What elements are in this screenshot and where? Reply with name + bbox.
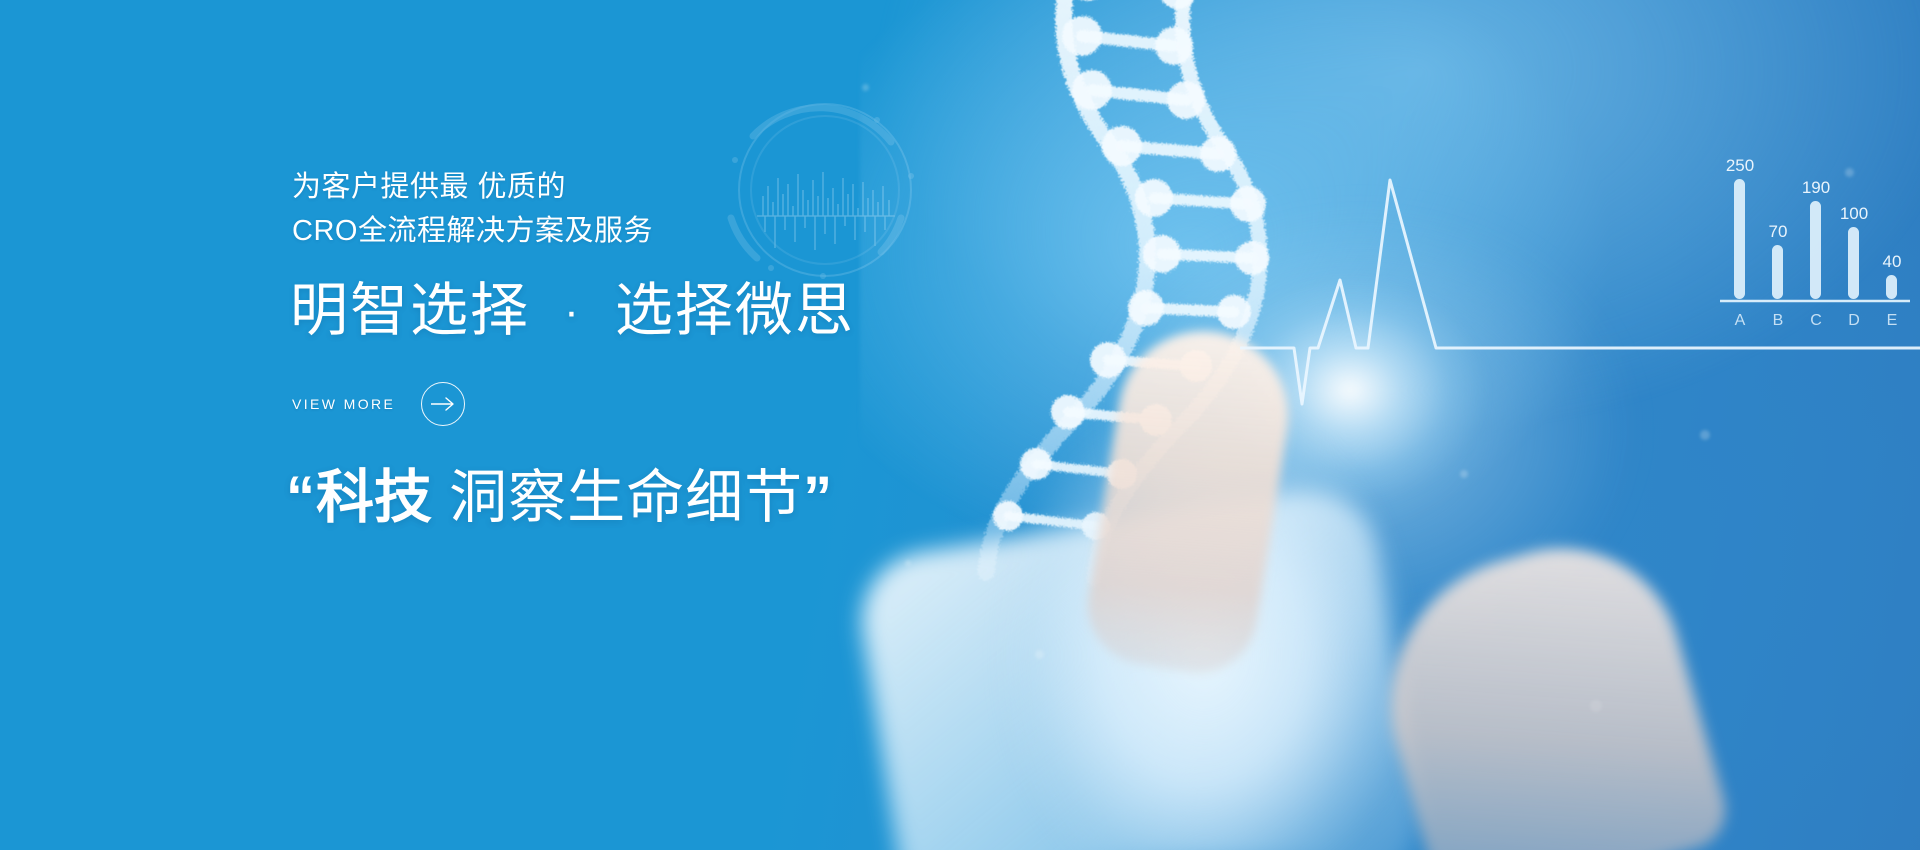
svg-text:70: 70 xyxy=(1769,222,1788,241)
headline-left: 明智选择 xyxy=(290,278,530,343)
hero-banner: 250 70 190 100 40 A B C D E 为客户提供最 优质的 C… xyxy=(0,0,1920,850)
bokeh-dot xyxy=(1590,700,1602,712)
svg-text:B: B xyxy=(1773,312,1784,329)
mini-bar-chart: 250 70 190 100 40 A B C D E xyxy=(1710,145,1920,335)
svg-text:A: A xyxy=(1735,312,1746,329)
svg-text:E: E xyxy=(1887,312,1898,329)
bokeh-dot xyxy=(1035,650,1044,659)
hero-copy: 为客户提供最 优质的 CRO全流程解决方案及服务 明智选择 · 选择微思 VIE… xyxy=(292,0,1012,850)
svg-text:190: 190 xyxy=(1802,178,1830,197)
hero-subtitle: 为客户提供最 优质的 CRO全流程解决方案及服务 xyxy=(292,165,653,253)
quote-open-mark: “ xyxy=(286,465,316,530)
svg-text:250: 250 xyxy=(1726,156,1754,175)
hero-quote: “科技 洞察生命细节” xyxy=(286,455,833,541)
headline-separator: · xyxy=(548,287,597,336)
bokeh-dot xyxy=(1460,470,1468,478)
quote-emphasis: 科技 xyxy=(316,465,432,530)
view-more-label: VIEW MORE xyxy=(292,396,395,412)
svg-text:D: D xyxy=(1848,312,1860,329)
hero-headline: 明智选择 · 选择微思 xyxy=(290,276,855,347)
arrow-right-icon[interactable] xyxy=(421,382,465,426)
svg-text:C: C xyxy=(1810,312,1822,329)
quote-rest: 洞察生命细节 xyxy=(449,465,803,530)
quote-close-mark: ” xyxy=(803,465,833,530)
bokeh-dot xyxy=(1700,430,1710,440)
view-more-button[interactable]: VIEW MORE xyxy=(292,382,465,426)
svg-text:40: 40 xyxy=(1883,252,1902,271)
headline-right: 选择微思 xyxy=(615,278,855,343)
svg-text:100: 100 xyxy=(1840,204,1868,223)
bokeh-dot xyxy=(1845,168,1854,177)
